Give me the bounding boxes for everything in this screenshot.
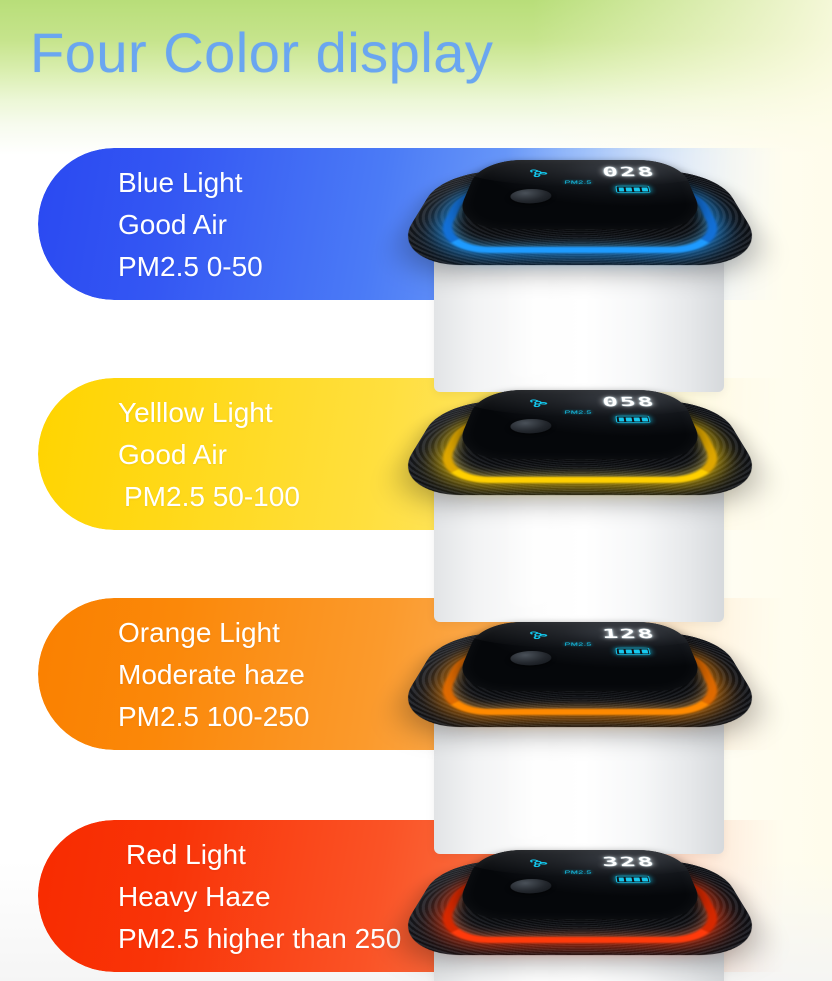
- page-title: Four Color display: [30, 20, 493, 85]
- fan-icon: [523, 398, 553, 408]
- device-control-panel[interactable]: PM2.5 128: [451, 622, 708, 691]
- fan-icon: [523, 630, 553, 640]
- product-infographic: Four Color display Blue Light Good Air P…: [0, 0, 832, 981]
- power-button[interactable]: [509, 651, 553, 665]
- pm-label: PM2.5: [564, 870, 591, 875]
- filter-level-icon: [615, 648, 650, 655]
- power-button[interactable]: [509, 189, 553, 203]
- filter-level-icon: [615, 416, 650, 423]
- pm-label: PM2.5: [564, 410, 591, 415]
- pm-value-display: 328: [602, 854, 658, 869]
- fan-icon: [523, 168, 553, 178]
- device-control-panel[interactable]: PM2.5 328: [451, 850, 708, 919]
- color-state-row-blue: Blue Light Good Air PM2.5 0-50: [0, 140, 832, 350]
- color-state-row-orange: Orange Light Moderate haze PM2.5 100-250: [0, 590, 832, 800]
- pm-label: PM2.5: [564, 180, 591, 185]
- fan-icon: [523, 858, 553, 868]
- pm-value-display: 028: [602, 164, 658, 179]
- pm-value-display: 058: [602, 394, 658, 409]
- power-button[interactable]: [509, 879, 553, 893]
- color-state-row-yellow: Yelllow Light Good Air PM2.5 50-100: [0, 370, 832, 580]
- device-control-panel[interactable]: PM2.5 058: [451, 390, 708, 459]
- color-state-row-red: Red Light Heavy Haze PM2.5 higher than 2…: [0, 812, 832, 981]
- pm-label: PM2.5: [564, 642, 591, 647]
- air-purifier-device: PM2.5 058: [410, 348, 770, 598]
- air-purifier-device: PM2.5 328: [410, 808, 770, 981]
- power-button[interactable]: [509, 419, 553, 433]
- device-control-panel[interactable]: PM2.5 028: [451, 160, 708, 229]
- filter-level-icon: [615, 876, 650, 883]
- pm-value-display: 128: [602, 626, 658, 641]
- filter-level-icon: [615, 186, 650, 193]
- air-purifier-device: PM2.5 028: [410, 118, 770, 368]
- air-purifier-device: PM2.5 128: [410, 580, 770, 830]
